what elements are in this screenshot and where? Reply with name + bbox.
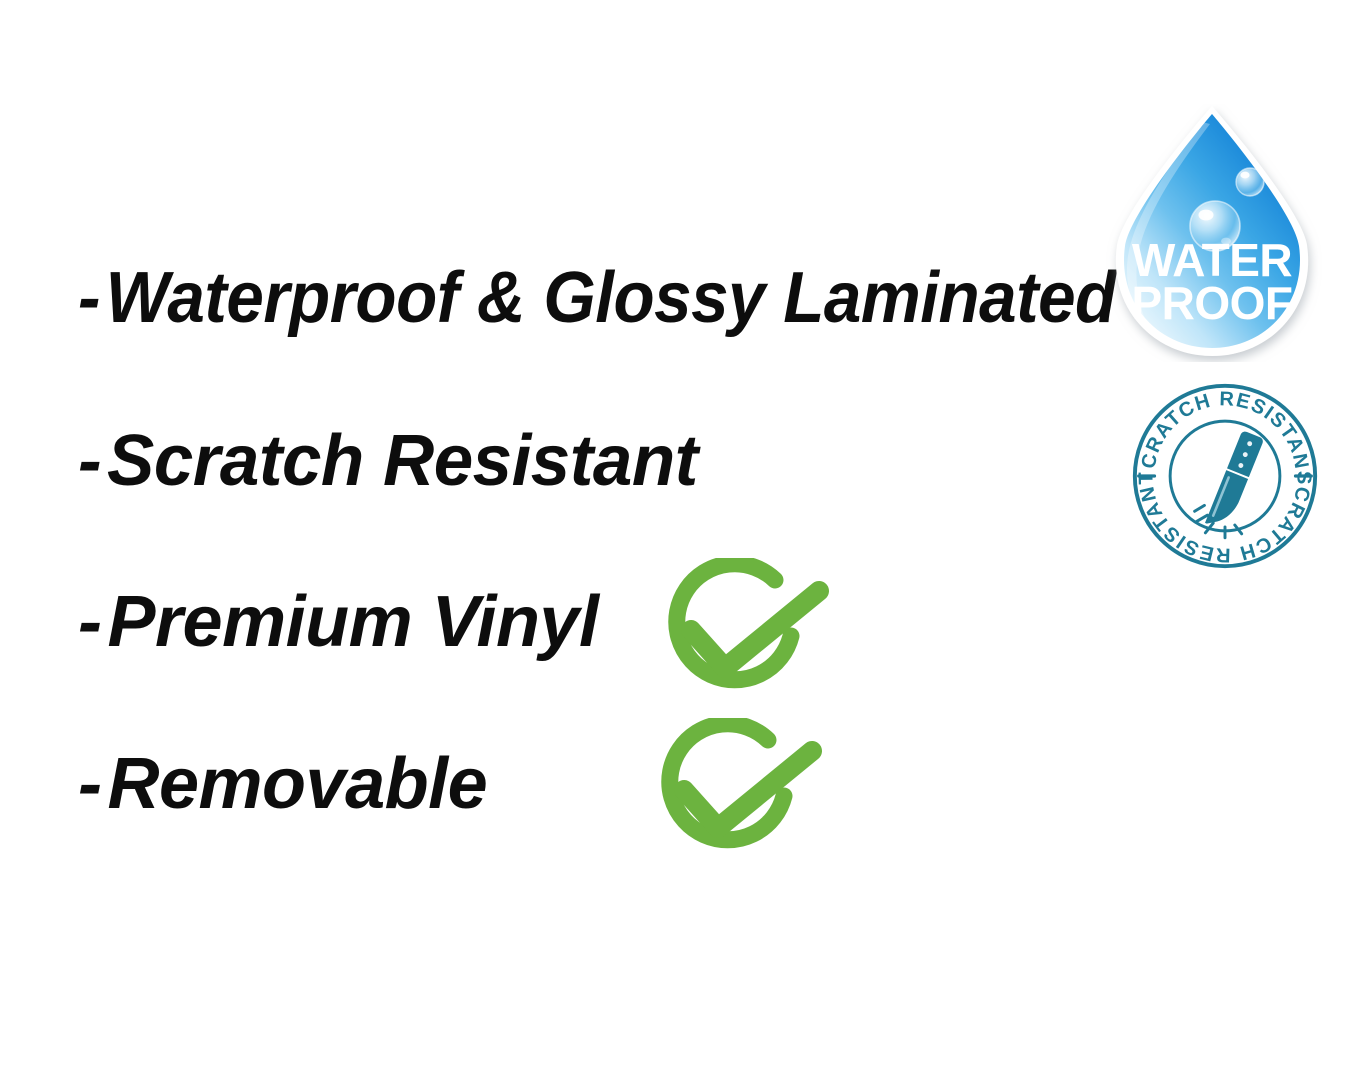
- check-circle-icon-removable: [636, 718, 836, 870]
- scratch-resistant-badge: SCRATCH RESISTANT SCRATCH RESISTANT: [1126, 378, 1324, 574]
- feature-list-item-scratch-resistant: -Scratch Resistant: [78, 425, 698, 497]
- feature-bullet: -: [78, 748, 101, 820]
- feature-graphic-canvas: -Waterproof & Glossy Laminated -Scratch …: [0, 0, 1359, 1080]
- feature-list-item-premium-vinyl: -Premium Vinyl: [78, 586, 598, 658]
- feature-bullet: -: [78, 425, 101, 497]
- feature-label: Waterproof & Glossy Laminated: [106, 262, 1116, 334]
- knife-icon: [1205, 430, 1264, 531]
- waterproof-badge: WATER PROOF: [1098, 104, 1326, 362]
- check-mark-stroke: [684, 751, 812, 828]
- feature-list-item-removable: -Removable: [78, 748, 487, 820]
- scratch-text-top: SCRATCH RESISTANT: [1126, 378, 1312, 472]
- feature-label: Premium Vinyl: [107, 586, 598, 658]
- feature-bullet: -: [78, 586, 101, 658]
- feature-bullet: -: [78, 262, 100, 334]
- check-circle-icon-premium-vinyl: [643, 558, 843, 710]
- feature-label: Removable: [107, 748, 487, 820]
- feature-list-item-waterproof: -Waterproof & Glossy Laminated: [78, 262, 1116, 334]
- check-mark-stroke: [691, 591, 819, 668]
- waterproof-line2: PROOF: [1131, 277, 1292, 329]
- feature-label: Scratch Resistant: [107, 425, 698, 497]
